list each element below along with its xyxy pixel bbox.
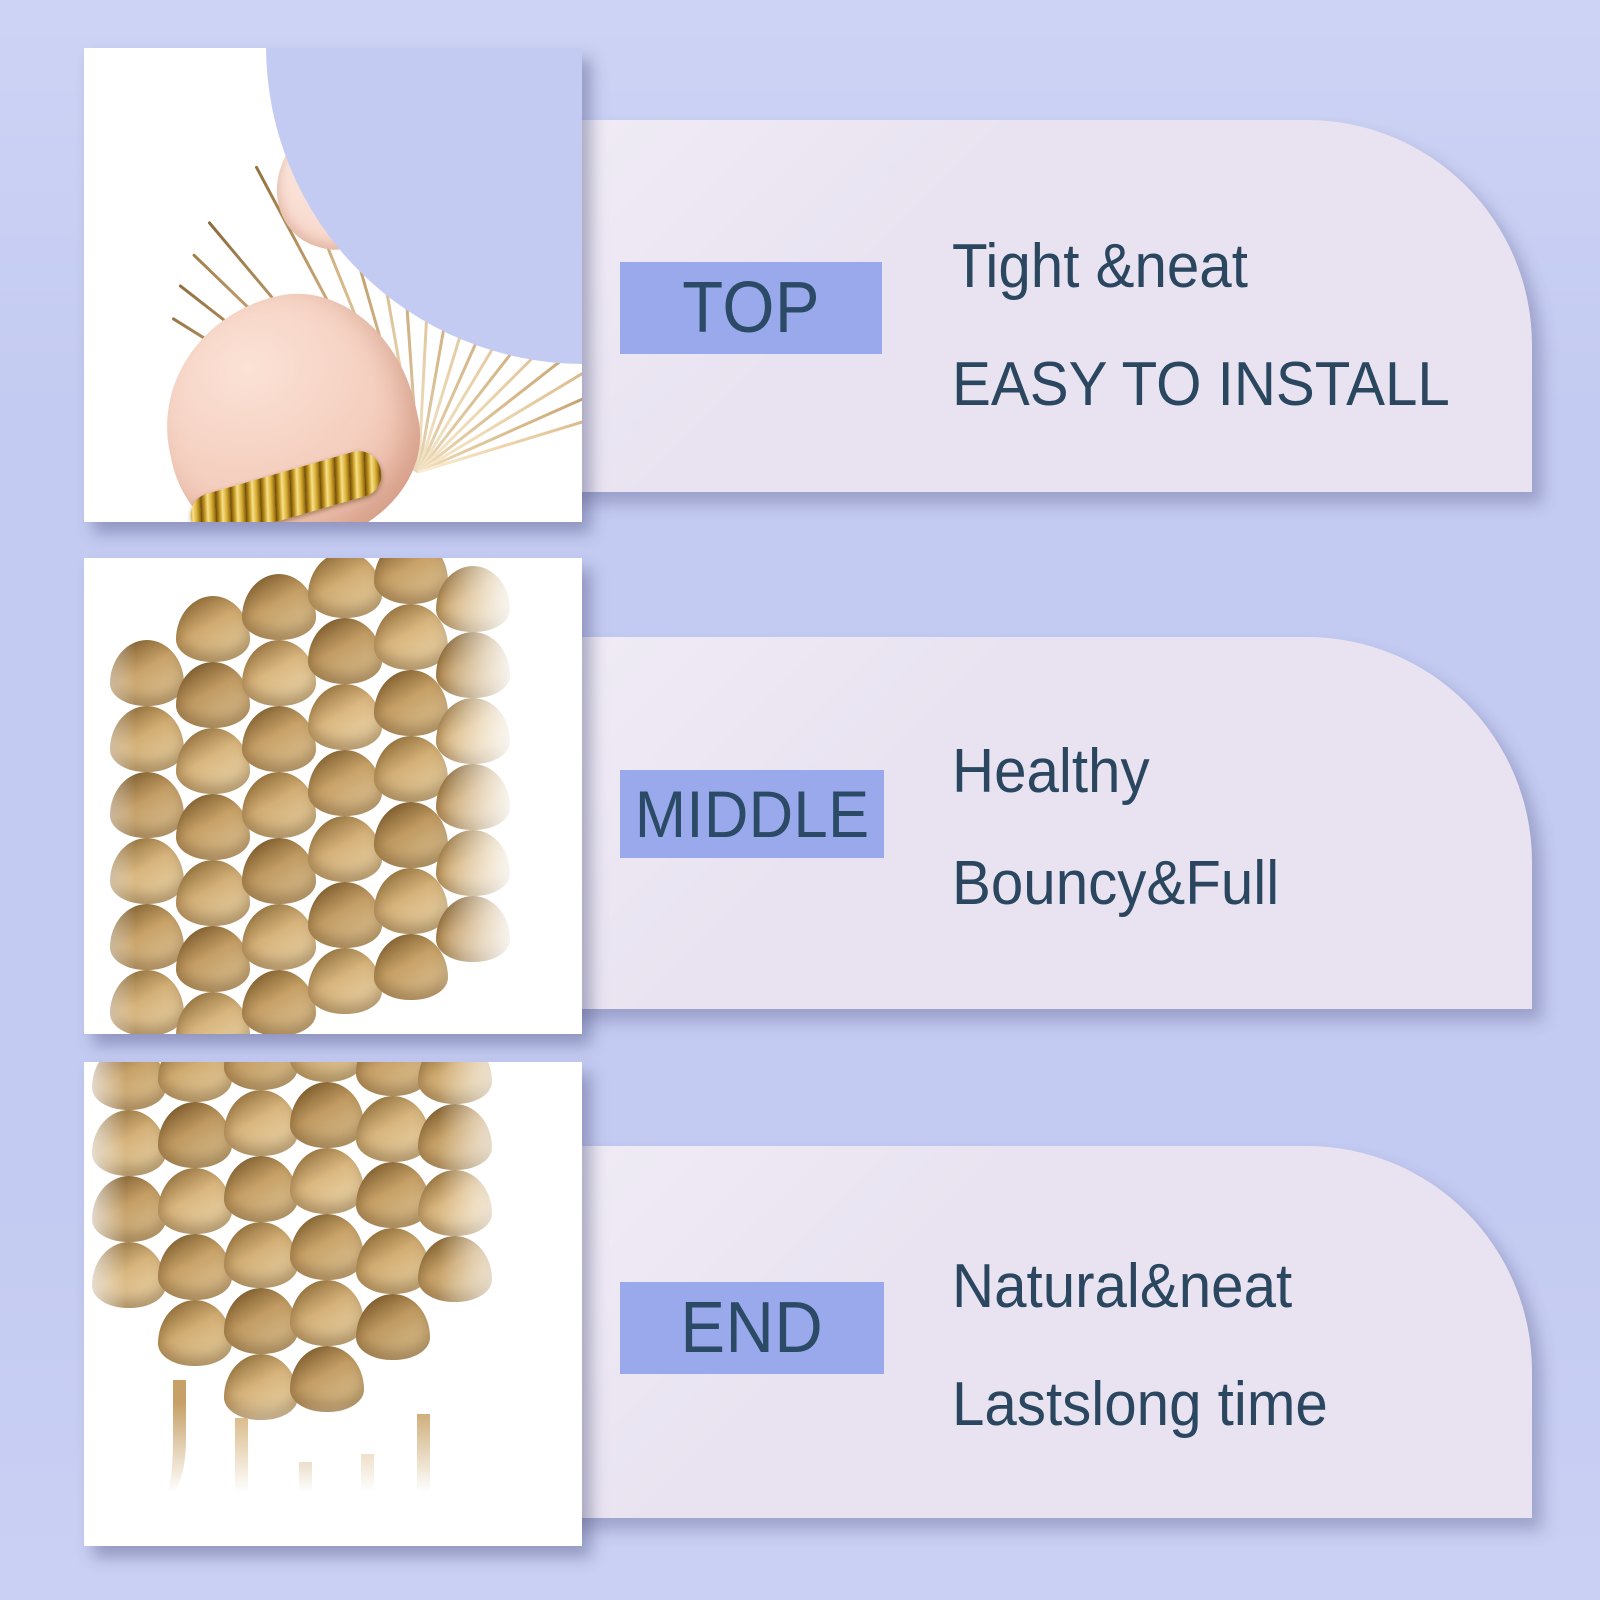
feature-lines-end: Natural&neat Lastslong time [952, 1228, 1352, 1464]
photo-card-end [84, 1062, 582, 1546]
deep-wave-hair-artwork [84, 558, 582, 1034]
badge-top-label: TOP [682, 272, 820, 344]
photo-middle-image [84, 558, 582, 1034]
badge-top: TOP [620, 262, 882, 354]
feature-line-end-1: Natural&neat [952, 1228, 1328, 1346]
feature-line-middle-2: Bouncy&Full [952, 828, 1279, 940]
feature-line-middle-1: Healthy [952, 716, 1279, 828]
feature-lines-middle: Healthy Bouncy&Full [952, 716, 1300, 940]
badge-end-label: END [681, 1292, 824, 1364]
photo-card-middle [84, 558, 582, 1034]
curly-ends-artwork [84, 1062, 582, 1546]
feature-line-top-1: Tight &neat [952, 208, 1450, 326]
badge-middle: MIDDLE [620, 770, 884, 858]
feature-line-end-2: Lastslong time [952, 1346, 1328, 1464]
infographic-canvas: TOP Tight &neat EASY TO INSTALL [0, 0, 1600, 1600]
badge-end: END [620, 1282, 884, 1374]
photo-card-top [84, 48, 582, 522]
feature-lines-top: Tight &neat EASY TO INSTALL [952, 208, 1482, 444]
badge-middle-label: MIDDLE [635, 781, 870, 847]
feature-line-top-2: EASY TO INSTALL [952, 326, 1450, 444]
photo-end-image [84, 1062, 582, 1546]
